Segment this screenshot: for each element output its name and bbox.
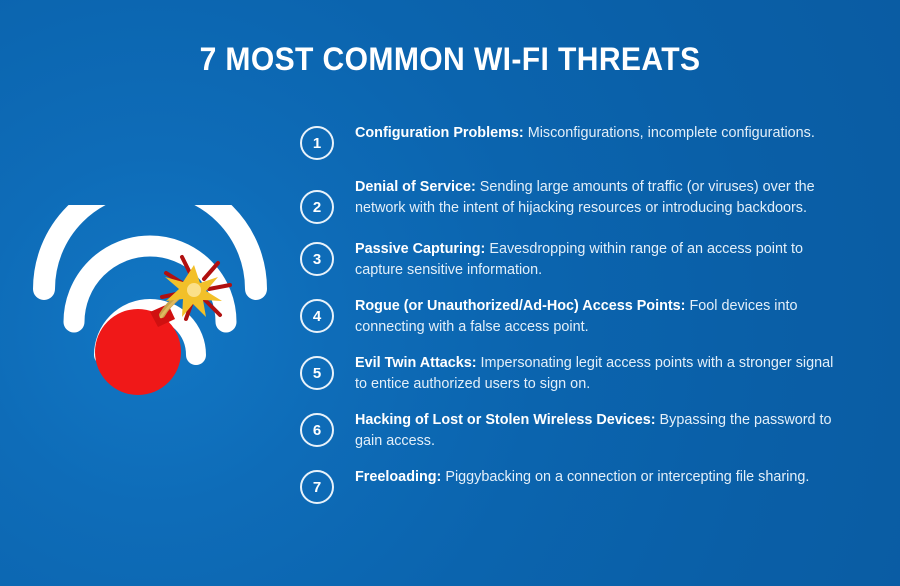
threat-item-2: 2 Denial of Service: Sending large amoun…	[300, 176, 880, 224]
threat-lead-5: Evil Twin Attacks:	[355, 355, 477, 371]
threat-text-1: Configuration Problems: Misconfiguration…	[355, 122, 815, 144]
threat-item-5: 5 Evil Twin Attacks: Impersonating legit…	[300, 352, 880, 395]
threat-text-5: Evil Twin Attacks: Impersonating legit a…	[355, 352, 841, 395]
threat-lead-1: Configuration Problems:	[355, 125, 524, 141]
threat-number-4: 4	[300, 299, 334, 333]
threat-lead-7: Freeloading:	[355, 469, 441, 485]
threat-number-2: 2	[300, 190, 334, 224]
threat-item-6: 6 Hacking of Lost or Stolen Wireless Dev…	[300, 409, 880, 452]
page-title: 7 MOST COMMON WI-FI THREATS	[27, 41, 873, 78]
threat-body-1: Misconfigurations, incomplete configurat…	[524, 125, 815, 141]
threat-item-1: 1 Configuration Problems: Misconfigurati…	[300, 122, 880, 162]
threat-list: 1 Configuration Problems: Misconfigurati…	[300, 122, 880, 520]
threat-lead-4: Rogue (or Unauthorized/Ad-Hoc) Access Po…	[355, 298, 685, 314]
threat-lead-6: Hacking of Lost or Stolen Wireless Devic…	[355, 412, 656, 428]
threat-number-3: 3	[300, 242, 334, 276]
threat-number-7: 7	[300, 470, 334, 504]
threat-number-1: 1	[300, 126, 334, 160]
threat-text-6: Hacking of Lost or Stolen Wireless Devic…	[355, 409, 841, 452]
threat-text-3: Passive Capturing: Eavesdropping within …	[355, 238, 841, 281]
threat-number-6: 6	[300, 413, 334, 447]
infographic-poster: 7 MOST COMMON WI-FI THREATS	[0, 0, 900, 586]
threat-text-4: Rogue (or Unauthorized/Ad-Hoc) Access Po…	[355, 295, 841, 338]
threat-text-7: Freeloading: Piggybacking on a connectio…	[355, 466, 809, 488]
threat-lead-2: Denial of Service:	[355, 179, 476, 195]
threat-item-3: 3 Passive Capturing: Eavesdropping withi…	[300, 238, 880, 281]
threat-text-2: Denial of Service: Sending large amounts…	[355, 176, 841, 219]
threat-item-7: 7 Freeloading: Piggybacking on a connect…	[300, 466, 880, 506]
threat-lead-3: Passive Capturing:	[355, 241, 485, 257]
threat-number-5: 5	[300, 356, 334, 390]
wifi-bomb-illustration	[22, 205, 278, 420]
threat-body-7: Piggybacking on a connection or intercep…	[441, 469, 809, 485]
threat-item-4: 4 Rogue (or Unauthorized/Ad-Hoc) Access …	[300, 295, 880, 338]
